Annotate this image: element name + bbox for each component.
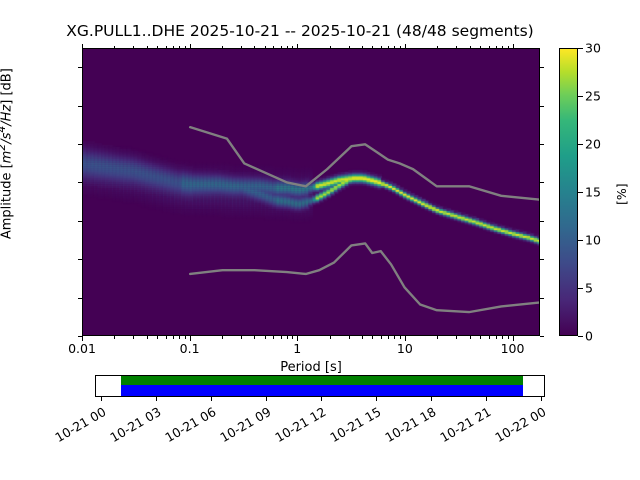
x-minor-tickmark bbox=[157, 46, 158, 49]
x-minor-tickmark bbox=[381, 336, 382, 339]
colorbar-tick-label: 25 bbox=[585, 89, 601, 104]
timeline-tickmark bbox=[376, 397, 377, 401]
y-tickmark bbox=[78, 106, 82, 107]
colorbar-label: [%] bbox=[614, 183, 629, 205]
y-tickmark bbox=[78, 298, 82, 299]
ppsd-axes bbox=[82, 48, 540, 336]
x-minor-tickmark bbox=[388, 46, 389, 49]
x-minor-tickmark bbox=[254, 46, 255, 49]
timeline-tick-label: 10-22 00 bbox=[489, 404, 548, 447]
x-minor-tickmark bbox=[496, 336, 497, 339]
timeline-tick-label: 10-21 00 bbox=[49, 404, 108, 447]
timeline-tickmark bbox=[211, 397, 212, 401]
timeline-tickmark bbox=[321, 397, 322, 401]
colorbar-tickmark bbox=[578, 288, 583, 289]
x-minor-tickmark bbox=[372, 46, 373, 49]
y-tickmark bbox=[540, 182, 544, 183]
x-minor-tickmark bbox=[241, 336, 242, 339]
x-minor-tickmark bbox=[147, 336, 148, 339]
timeline-tickmark bbox=[431, 397, 432, 401]
x-minor-tickmark bbox=[470, 46, 471, 49]
x-major-tickmark bbox=[405, 44, 406, 49]
x-minor-tickmark bbox=[166, 46, 167, 49]
x-minor-tickmark bbox=[157, 336, 158, 339]
x-minor-tickmark bbox=[147, 46, 148, 49]
x-minor-tickmark bbox=[265, 46, 266, 49]
x-minor-tickmark bbox=[372, 336, 373, 339]
timeline-tick-label: 10-21 12 bbox=[269, 404, 328, 447]
x-minor-tickmark bbox=[388, 336, 389, 339]
noise-model-layer bbox=[83, 49, 539, 335]
x-minor-tickmark bbox=[241, 46, 242, 49]
x-minor-tickmark bbox=[185, 46, 186, 49]
x-minor-tickmark bbox=[185, 336, 186, 339]
colorbar-tick-label: 15 bbox=[585, 185, 601, 200]
colorbar-tickmark bbox=[578, 240, 583, 241]
x-minor-tickmark bbox=[287, 336, 288, 339]
colorbar-tickmark bbox=[578, 144, 583, 145]
colorbar bbox=[559, 48, 578, 336]
x-major-tickmark bbox=[82, 44, 83, 49]
x-minor-tickmark bbox=[292, 336, 293, 339]
x-minor-tickmark bbox=[281, 46, 282, 49]
nlnm-curve bbox=[190, 243, 539, 312]
x-minor-tickmark bbox=[273, 336, 274, 339]
x-tick-label: 0.01 bbox=[68, 341, 96, 356]
colorbar-tick-label: 5 bbox=[585, 281, 593, 296]
timeline-tick-label: 10-21 09 bbox=[214, 404, 273, 447]
x-minor-tickmark bbox=[394, 336, 395, 339]
x-minor-tickmark bbox=[330, 336, 331, 339]
y-tickmark bbox=[78, 221, 82, 222]
timeline-tick-label: 10-21 06 bbox=[159, 404, 218, 447]
x-minor-tickmark bbox=[349, 336, 350, 339]
x-major-tickmark bbox=[190, 336, 191, 341]
colorbar-tick-label: 0 bbox=[585, 329, 593, 344]
x-tick-label: 0.1 bbox=[180, 341, 200, 356]
x-minor-tickmark bbox=[287, 46, 288, 49]
x-minor-tickmark bbox=[362, 336, 363, 339]
x-minor-tickmark bbox=[133, 336, 134, 339]
x-major-tickmark bbox=[190, 44, 191, 49]
y-tickmark bbox=[78, 144, 82, 145]
x-minor-tickmark bbox=[400, 46, 401, 49]
timeline-tickmark bbox=[541, 397, 542, 401]
x-tick-label: 10 bbox=[397, 341, 413, 356]
y-tickmark bbox=[78, 67, 82, 68]
timeline-tick-label: 10-21 18 bbox=[379, 404, 438, 447]
x-minor-tickmark bbox=[489, 46, 490, 49]
y-axis-label: Amplitude [m2/s4/Hz] [dB] bbox=[0, 0, 15, 414]
coverage-timeline[interactable] bbox=[95, 375, 545, 397]
x-minor-tickmark bbox=[400, 336, 401, 339]
x-major-tickmark bbox=[297, 336, 298, 341]
x-minor-tickmark bbox=[114, 336, 115, 339]
timeline-tick-label: 10-21 03 bbox=[104, 404, 163, 447]
x-minor-tickmark bbox=[496, 46, 497, 49]
x-minor-tickmark bbox=[292, 46, 293, 49]
x-minor-tickmark bbox=[173, 46, 174, 49]
timeline-tick-label: 10-21 21 bbox=[434, 404, 493, 447]
y-tickmark bbox=[540, 106, 544, 107]
x-minor-tickmark bbox=[273, 46, 274, 49]
x-minor-tickmark bbox=[179, 46, 180, 49]
x-minor-tickmark bbox=[381, 46, 382, 49]
timeline-green-band bbox=[121, 376, 523, 385]
x-minor-tickmark bbox=[456, 46, 457, 49]
timeline-blue-band bbox=[121, 385, 523, 396]
timeline-tick-label: 10-21 15 bbox=[324, 404, 383, 447]
y-tickmark bbox=[540, 259, 544, 260]
x-minor-tickmark bbox=[114, 46, 115, 49]
x-major-tickmark bbox=[82, 336, 83, 341]
y-tickmark bbox=[540, 144, 544, 145]
page-title: XG.PULL1..DHE 2025-10-21 -- 2025-10-21 (… bbox=[0, 22, 600, 40]
x-minor-tickmark bbox=[330, 46, 331, 49]
timeline-tickmark bbox=[266, 397, 267, 401]
y-tickmark bbox=[540, 221, 544, 222]
colorbar-tickmark bbox=[578, 336, 583, 337]
x-minor-tickmark bbox=[222, 46, 223, 49]
colorbar-tick-label: 10 bbox=[585, 233, 601, 248]
x-major-tickmark bbox=[297, 44, 298, 49]
x-minor-tickmark bbox=[508, 336, 509, 339]
timeline-tickmark bbox=[486, 397, 487, 401]
x-minor-tickmark bbox=[349, 46, 350, 49]
x-minor-tickmark bbox=[166, 336, 167, 339]
x-major-tickmark bbox=[513, 336, 514, 341]
x-minor-tickmark bbox=[362, 46, 363, 49]
colorbar-tick-label: 30 bbox=[585, 41, 601, 56]
figure-canvas: XG.PULL1..DHE 2025-10-21 -- 2025-10-21 (… bbox=[0, 0, 640, 480]
colorbar-tickmark bbox=[578, 48, 583, 49]
x-minor-tickmark bbox=[480, 46, 481, 49]
x-tick-label: 1 bbox=[293, 341, 301, 356]
x-tick-label: 100 bbox=[501, 341, 525, 356]
x-minor-tickmark bbox=[470, 336, 471, 339]
x-minor-tickmark bbox=[456, 336, 457, 339]
x-minor-tickmark bbox=[179, 336, 180, 339]
x-minor-tickmark bbox=[222, 336, 223, 339]
x-minor-tickmark bbox=[480, 336, 481, 339]
x-minor-tickmark bbox=[281, 336, 282, 339]
colorbar-tick-label: 20 bbox=[585, 137, 601, 152]
timeline-tickmark bbox=[156, 397, 157, 401]
x-minor-tickmark bbox=[265, 336, 266, 339]
y-tickmark bbox=[78, 259, 82, 260]
x-minor-tickmark bbox=[173, 336, 174, 339]
x-minor-tickmark bbox=[502, 46, 503, 49]
x-axis-label: Period [s] bbox=[82, 360, 540, 375]
x-minor-tickmark bbox=[502, 336, 503, 339]
x-minor-tickmark bbox=[437, 336, 438, 339]
x-minor-tickmark bbox=[489, 336, 490, 339]
y-tickmark bbox=[540, 67, 544, 68]
x-minor-tickmark bbox=[133, 46, 134, 49]
nhnm-curve bbox=[190, 127, 539, 199]
x-minor-tickmark bbox=[254, 336, 255, 339]
colorbar-tickmark bbox=[578, 192, 583, 193]
x-minor-tickmark bbox=[437, 46, 438, 49]
x-major-tickmark bbox=[405, 336, 406, 341]
y-tickmark bbox=[540, 336, 544, 337]
y-tickmark bbox=[78, 182, 82, 183]
x-minor-tickmark bbox=[394, 46, 395, 49]
colorbar-tickmark bbox=[578, 96, 583, 97]
timeline-tickmark bbox=[101, 397, 102, 401]
y-tickmark bbox=[540, 298, 544, 299]
x-major-tickmark bbox=[513, 44, 514, 49]
x-minor-tickmark bbox=[508, 46, 509, 49]
